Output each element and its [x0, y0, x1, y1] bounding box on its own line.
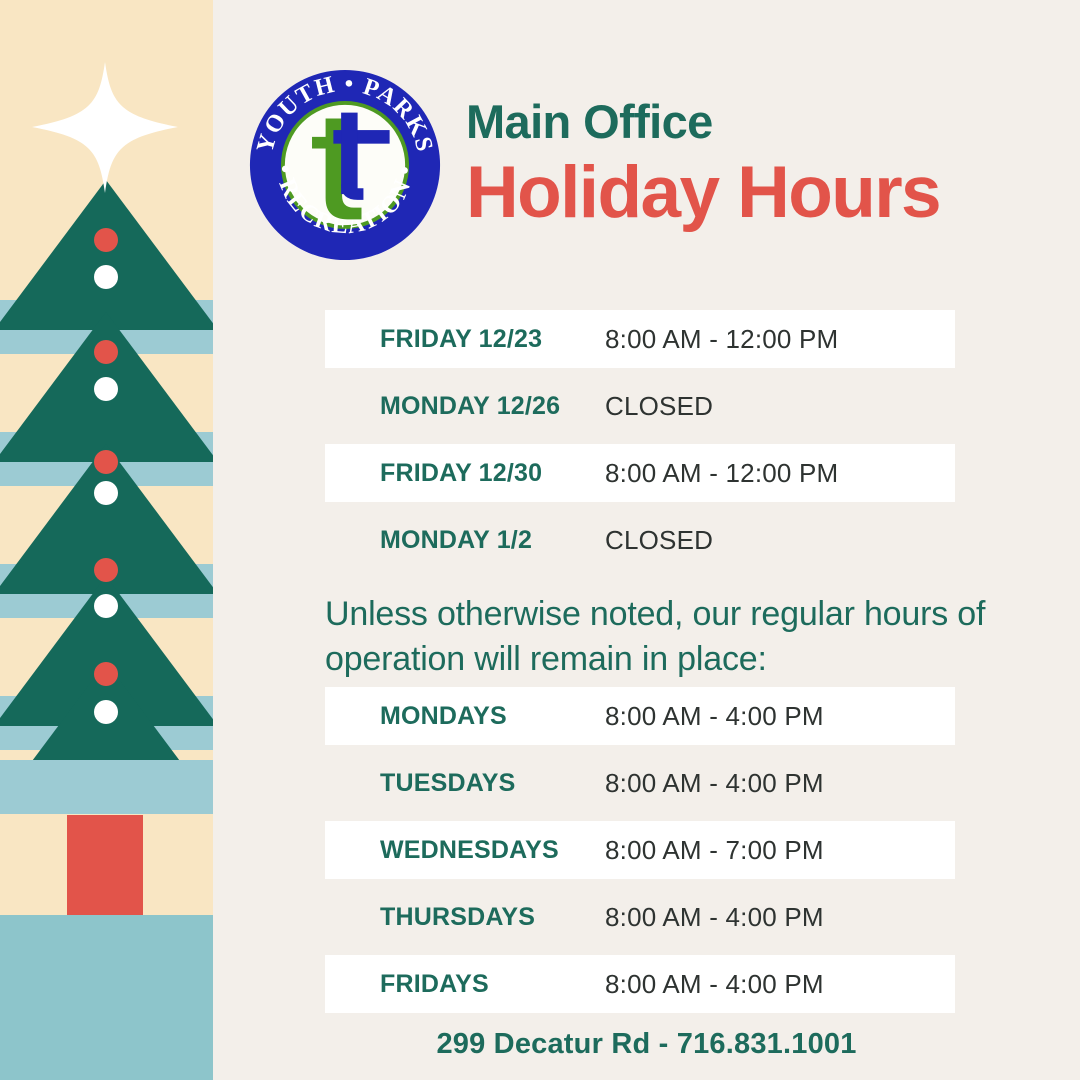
ornament-red-5	[94, 662, 118, 686]
time-value: 8:00 AM - 12:00 PM	[605, 324, 838, 355]
footer-contact: 299 Decatur Rd - 716.831.1001	[213, 1028, 1080, 1061]
table-row: FRIDAY 12/30 8:00 AM - 12:00 PM	[325, 444, 955, 502]
tree-tier-1	[0, 180, 213, 330]
time-value: 8:00 AM - 4:00 PM	[605, 768, 824, 799]
ornament-red-2	[94, 340, 118, 364]
day-label: TUESDAYS	[325, 769, 605, 798]
holiday-hours-table: FRIDAY 12/23 8:00 AM - 12:00 PM MONDAY 1…	[325, 310, 955, 578]
ornament-white-2	[94, 377, 118, 401]
time-value: 8:00 AM - 4:00 PM	[605, 902, 824, 933]
day-label: FRIDAYS	[325, 970, 605, 999]
time-value: 8:00 AM - 4:00 PM	[605, 701, 824, 732]
day-label: FRIDAY 12/30	[325, 459, 605, 488]
ornament-red-1	[94, 228, 118, 252]
ornament-red-3	[94, 450, 118, 474]
table-row: THURSDAYS 8:00 AM - 4:00 PM	[325, 888, 955, 946]
ornament-red-4	[94, 558, 118, 582]
table-row: FRIDAY 12/23 8:00 AM - 12:00 PM	[325, 310, 955, 368]
table-row: MONDAYS 8:00 AM - 4:00 PM	[325, 687, 955, 745]
ornament-white-3	[94, 481, 118, 505]
ornament-white-5	[94, 700, 118, 724]
day-label: MONDAY 1/2	[325, 526, 605, 555]
header-text-block: Main Office Holiday Hours	[466, 98, 940, 231]
regular-hours-table: MONDAYS 8:00 AM - 4:00 PM TUESDAYS 8:00 …	[325, 687, 955, 1022]
table-row: TUESDAYS 8:00 AM - 4:00 PM	[325, 754, 955, 812]
decorative-left-panel	[0, 0, 213, 1080]
table-row: WEDNESDAYS 8:00 AM - 7:00 PM	[325, 821, 955, 879]
ground-band	[0, 915, 213, 1080]
christmas-star-icon	[30, 60, 180, 195]
time-value: 8:00 AM - 12:00 PM	[605, 458, 838, 489]
day-label: WEDNESDAYS	[325, 836, 605, 865]
time-value: 8:00 AM - 7:00 PM	[605, 835, 824, 866]
day-label: FRIDAY 12/23	[325, 325, 605, 354]
youth-parks-recreation-logo: YOUTH • PARKS • RECREATION •	[248, 68, 442, 262]
day-label: MONDAYS	[325, 702, 605, 731]
snow-band-5	[0, 760, 213, 814]
ornament-white-1	[94, 265, 118, 289]
page-title: Holiday Hours	[466, 154, 940, 231]
time-value: CLOSED	[605, 525, 713, 556]
day-label: THURSDAYS	[325, 903, 605, 932]
time-value: 8:00 AM - 4:00 PM	[605, 969, 824, 1000]
day-label: MONDAY 12/26	[325, 392, 605, 421]
page-eyebrow: Main Office	[466, 98, 940, 145]
table-row: FRIDAYS 8:00 AM - 4:00 PM	[325, 955, 955, 1013]
table-row: MONDAY 12/26 CLOSED	[325, 377, 955, 435]
regular-hours-note: Unless otherwise noted, our regular hour…	[325, 592, 1005, 682]
time-value: CLOSED	[605, 391, 713, 422]
table-row: MONDAY 1/2 CLOSED	[325, 511, 955, 569]
ornament-white-4	[94, 594, 118, 618]
